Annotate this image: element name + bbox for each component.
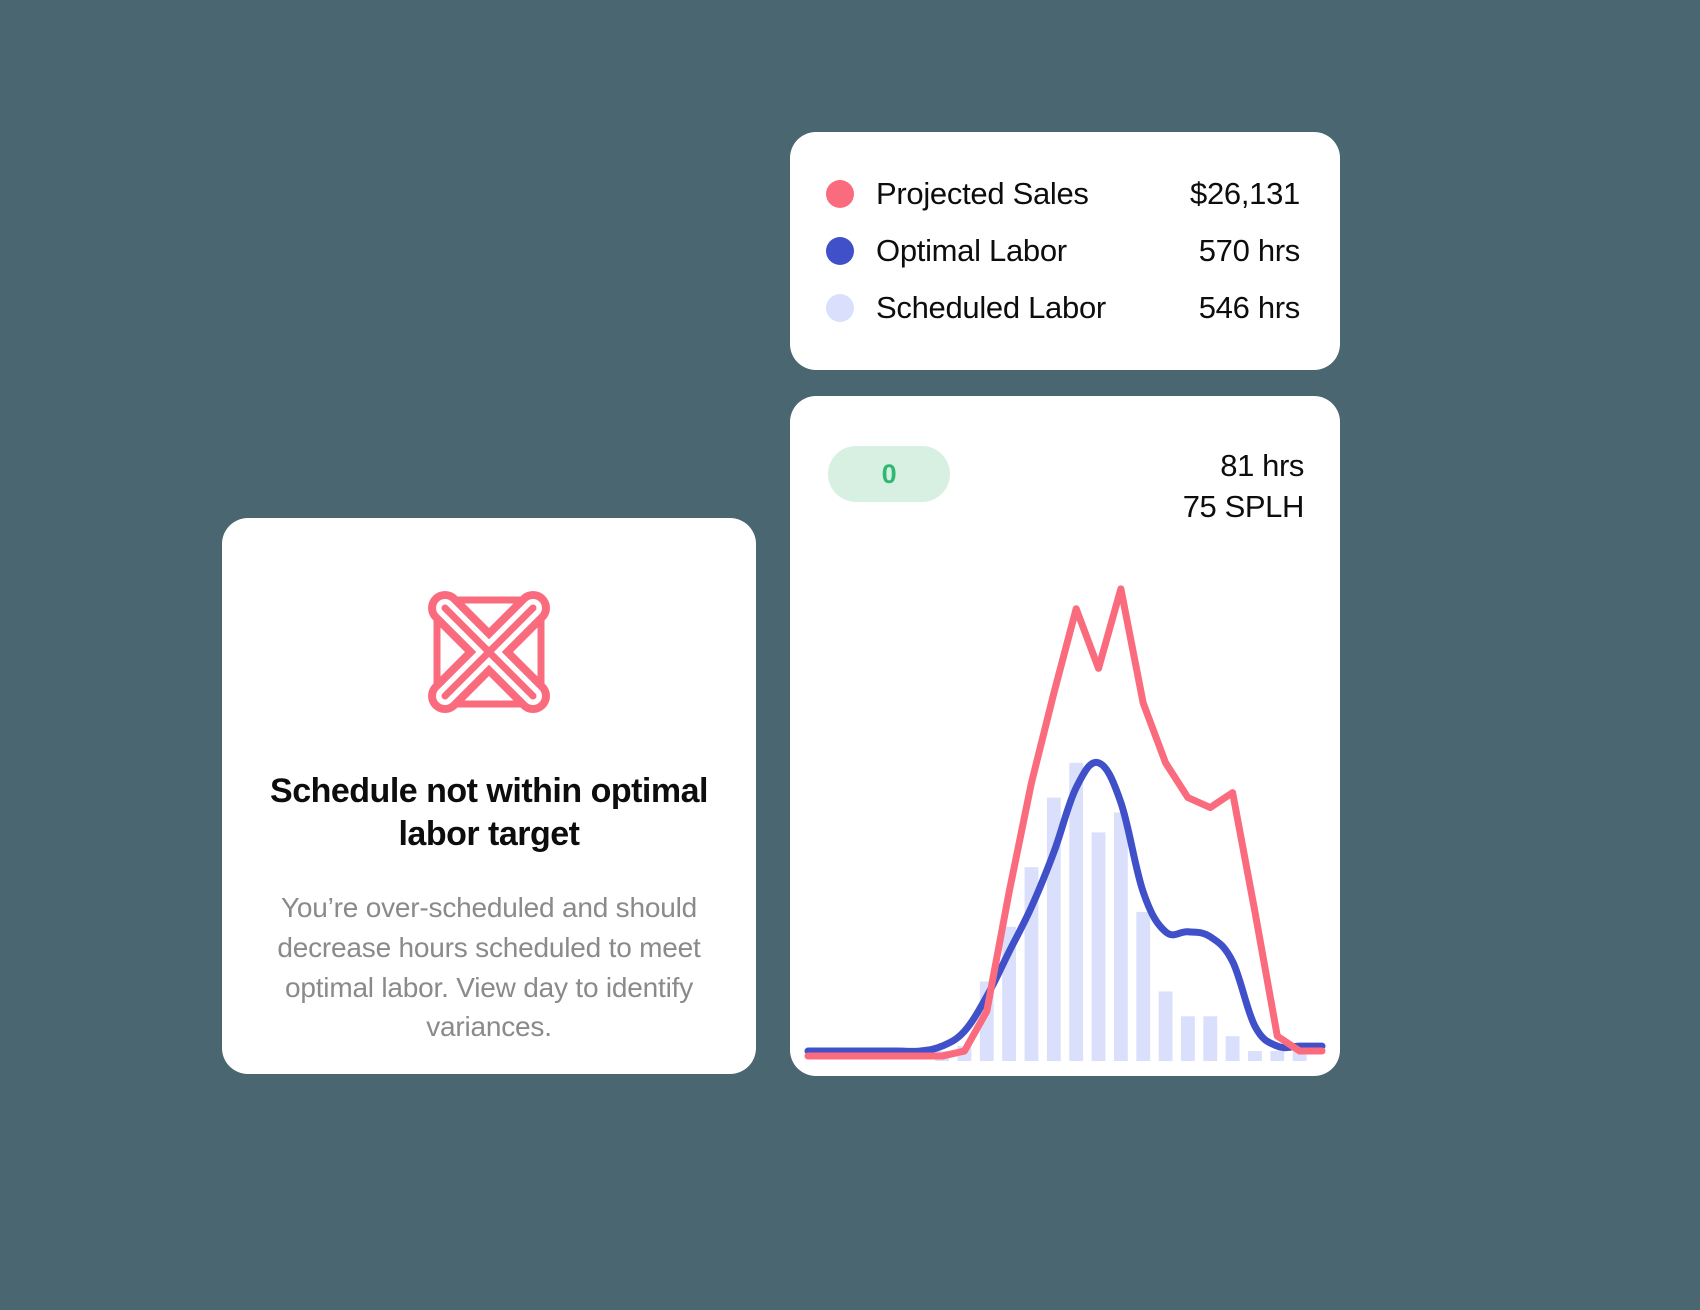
legend-row-optimal-labor[interactable]: Optimal Labor 570 hrs	[826, 223, 1300, 280]
legend-dot-scheduled-labor	[826, 294, 854, 322]
chart-plot-area	[790, 516, 1340, 1076]
metric-hours: 81 hrs	[1183, 446, 1304, 487]
optimal-labor-line	[808, 762, 1322, 1051]
chart-svg	[790, 516, 1340, 1076]
scheduled-labor-bar	[1114, 813, 1128, 1062]
legend-dot-projected-sales	[826, 180, 854, 208]
scheduled-labor-bar	[1136, 912, 1150, 1061]
variance-status-badge: 0	[828, 446, 950, 502]
legend-summary-card: Projected Sales $26,131 Optimal Labor 57…	[790, 132, 1340, 370]
x-square-icon	[423, 586, 555, 718]
schedule-alert-card: Schedule not within optimal labor target…	[222, 518, 756, 1074]
legend-row-projected-sales[interactable]: Projected Sales $26,131	[826, 166, 1300, 223]
legend-value-optimal-labor: 570 hrs	[1199, 233, 1300, 269]
legend-row-scheduled-labor[interactable]: Scheduled Labor 546 hrs	[826, 279, 1300, 336]
legend-label-scheduled-labor: Scheduled Labor	[876, 290, 1106, 326]
legend-label-projected-sales: Projected Sales	[876, 176, 1089, 212]
scheduled-labor-bar	[1226, 1036, 1240, 1061]
labor-chart-card: 0 81 hrs 75 SPLH	[790, 396, 1340, 1076]
legend-dot-optimal-labor	[826, 237, 854, 265]
legend-label-optimal-labor: Optimal Labor	[876, 233, 1067, 269]
scheduled-labor-bar	[1248, 1051, 1262, 1061]
legend-value-scheduled-labor: 546 hrs	[1199, 290, 1300, 326]
alert-icon-wrap	[222, 586, 756, 718]
scheduled-labor-bar	[1159, 991, 1173, 1061]
screen: Projected Sales $26,131 Optimal Labor 57…	[0, 0, 1700, 1310]
legend-value-projected-sales: $26,131	[1190, 176, 1300, 212]
scheduled-labor-bar	[1203, 1016, 1217, 1061]
scheduled-labor-bar	[1270, 1051, 1284, 1061]
scheduled-labor-bar	[1181, 1016, 1195, 1061]
alert-description: You’re over-scheduled and should decreas…	[272, 888, 706, 1047]
alert-title: Schedule not within optimal labor target	[266, 770, 712, 855]
scheduled-labor-bar	[1092, 832, 1106, 1061]
